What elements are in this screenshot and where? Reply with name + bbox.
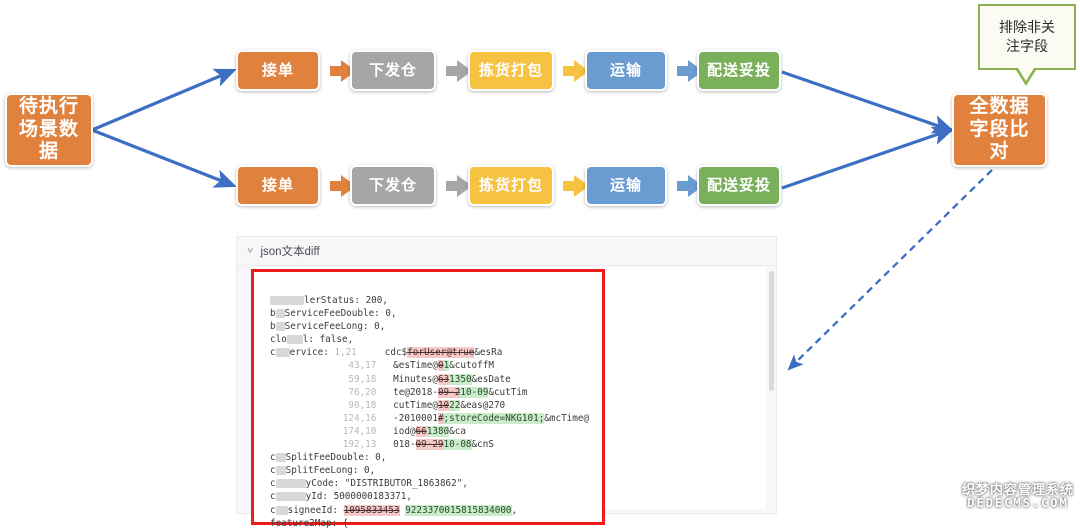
redacted-text xyxy=(287,335,303,344)
node-r1-step-4-label: 运输 xyxy=(610,62,642,79)
callout-label: 排除非关 注字段 xyxy=(999,18,1055,56)
node-r1-step-1-accept-order[interactable]: 接单 xyxy=(236,50,320,91)
diff-text: &esDate xyxy=(472,374,511,385)
callout-tail-inner-icon xyxy=(1018,68,1034,81)
callout-exclude-irrelevant-fields: 排除非关 注字段 xyxy=(978,4,1076,70)
node-r1-step-2-dispatch-warehouse[interactable]: 下发仓 xyxy=(350,50,436,91)
diff-line-number: 76,20 xyxy=(348,387,376,398)
diff-line: b ServiceFeeLong: 0, xyxy=(270,320,600,333)
redacted-text xyxy=(276,506,288,515)
redacted-text xyxy=(276,479,306,488)
diff-text: b xyxy=(270,308,276,319)
diff-line: c SplitFeeDouble: 0, xyxy=(270,451,600,464)
diff-text: &ca xyxy=(449,426,466,437)
diff-text: yId: 5000000183371, xyxy=(306,491,412,502)
redacted-text xyxy=(270,296,304,305)
node-r1-step-5-delivered[interactable]: 配送妥投 xyxy=(697,50,781,91)
node-r2-step-2-label: 下发仓 xyxy=(369,177,417,194)
diff-text: clo xyxy=(270,334,287,345)
diff-text: &cnS xyxy=(472,439,494,450)
diff-text: ServiceFeeLong: 0, xyxy=(285,321,386,332)
diff-text: c xyxy=(270,452,276,463)
diff-text: 018- xyxy=(376,439,415,450)
diff-text xyxy=(270,400,348,411)
diff-added-text: ;storeCode=NKG101; xyxy=(444,413,545,424)
diff-removed-text: 09-29 xyxy=(416,439,444,450)
node-source-scenario-data[interactable]: 待执行 场景数 据 xyxy=(5,93,93,167)
diff-text: te@2018- xyxy=(376,387,438,398)
diff-line: clo l: false, xyxy=(270,333,600,346)
node-full-field-comparison-label: 全数据 字段比 对 xyxy=(969,96,1029,164)
diff-highlight-box: lerStatus: 200,b ServiceFeeDouble: 0,b S… xyxy=(251,269,605,525)
diff-removed-text: forUser@true xyxy=(407,347,474,358)
diff-text: Minutes@ xyxy=(376,374,438,385)
diff-text: iod@ xyxy=(376,426,415,437)
diff-line: c ervice: 1,21 cdc$forUser@true&esRa xyxy=(270,346,600,359)
chevron-down-icon[interactable]: ˅ xyxy=(247,246,253,256)
diff-removed-text: 66 xyxy=(416,426,427,437)
diff-text: cdc$ xyxy=(357,347,407,358)
diff-line-number: 192,13 xyxy=(343,439,377,450)
diff-line-number: 59,18 xyxy=(348,374,376,385)
diff-text xyxy=(270,439,343,450)
diff-text: yCode: "DISTRIBUTOR_1863862", xyxy=(306,478,468,489)
diff-text: cutTime@ xyxy=(376,400,438,411)
node-full-field-comparison[interactable]: 全数据 字段比 对 xyxy=(952,93,1047,167)
diff-added-text: 1350 xyxy=(449,374,471,385)
diff-text: &esRa xyxy=(474,347,502,358)
diff-text xyxy=(270,413,343,424)
node-r2-step-3-label: 拣货打包 xyxy=(479,177,543,194)
diff-line: b ServiceFeeDouble: 0, xyxy=(270,307,600,320)
redacted-text xyxy=(276,322,285,331)
diff-line-number: 43,17 xyxy=(348,360,376,371)
diff-line: 43,17 &esTime@01&cutoffM xyxy=(270,359,600,372)
diff-line: 76,20 te@2018-09-210-09&cutTim xyxy=(270,386,600,399)
diff-removed-text: 09-2 xyxy=(438,387,460,398)
diff-text: ServiceFeeDouble: 0, xyxy=(285,308,397,319)
json-diff-panel: ˅ json文本diff lerStatus: 200,b ServiceFee… xyxy=(236,236,777,514)
diff-text: &cutTim xyxy=(488,387,527,398)
diff-line-number: 124,16 xyxy=(343,413,377,424)
diff-text: b xyxy=(270,321,276,332)
diff-text: ervice: xyxy=(290,347,335,358)
diff-text xyxy=(270,360,348,371)
diff-line-number: 174,10 xyxy=(343,426,377,437)
diagram-canvas: 待执行 场景数 据 接单 下发仓 拣货打包 运输 配送妥投 接单 下发仓 拣货打… xyxy=(0,0,1080,514)
diff-line: c yId: 5000000183371, xyxy=(270,490,600,503)
diff-line-number: 90,18 xyxy=(348,400,376,411)
json-diff-panel-header[interactable]: ˅ json文本diff xyxy=(237,237,776,266)
diff-removed-text: # xyxy=(438,413,444,424)
diff-removed-text: 10 xyxy=(438,400,449,411)
diff-line: 192,13 018-09-2910-08&cnS xyxy=(270,438,600,451)
redacted-text xyxy=(276,309,285,318)
diff-line: 174,10 iod@661380&ca xyxy=(270,425,600,438)
node-r2-step-5-delivered[interactable]: 配送妥投 xyxy=(697,165,781,206)
watermark-cn: 织梦内容管理系统 xyxy=(962,483,1074,497)
redacted-text xyxy=(276,466,286,475)
diff-line: lerStatus: 200, xyxy=(270,294,600,307)
node-r1-step-4-transport[interactable]: 运输 xyxy=(585,50,667,91)
diff-text: c xyxy=(270,478,276,489)
node-source-scenario-data-label: 待执行 场景数 据 xyxy=(19,96,79,164)
node-r1-step-1-label: 接单 xyxy=(262,62,294,79)
node-r1-step-3-pick-pack[interactable]: 拣货打包 xyxy=(468,50,554,91)
node-r1-step-2-label: 下发仓 xyxy=(369,62,417,79)
diff-text: SplitFeeLong: 0, xyxy=(286,465,376,476)
node-r2-step-5-label: 配送妥投 xyxy=(707,177,771,194)
diff-line: c SplitFeeLong: 0, xyxy=(270,464,600,477)
diff-removed-text: 63 xyxy=(438,374,449,385)
watermark-en: DEDECMS.COM xyxy=(962,497,1074,510)
diff-line: feature2Map: { xyxy=(270,517,600,530)
node-r2-step-4-label: 运输 xyxy=(610,177,642,194)
diff-line: 90,18 cutTime@1022&eas@270 xyxy=(270,399,600,412)
diff-scrollbar[interactable] xyxy=(769,271,774,391)
diff-text xyxy=(270,374,348,385)
diff-added-text: 10-09 xyxy=(460,387,488,398)
watermark: 织梦内容管理系统 DEDECMS.COM xyxy=(962,483,1074,510)
diff-text: feature2Map: { xyxy=(270,518,348,529)
redacted-text xyxy=(276,492,306,501)
diff-text xyxy=(270,426,343,437)
redacted-text xyxy=(276,348,290,357)
redacted-text xyxy=(276,453,286,462)
diff-text: -2010001 xyxy=(376,413,438,424)
node-r2-step-1-accept-order[interactable]: 接单 xyxy=(236,165,320,206)
diff-text: c xyxy=(270,465,276,476)
diff-text: &cutoffM xyxy=(449,360,494,371)
node-r2-step-1-label: 接单 xyxy=(262,177,294,194)
diff-text: &esTime@ xyxy=(376,360,438,371)
diff-text: &eas@270 xyxy=(460,400,505,411)
node-r2-step-2-dispatch-warehouse[interactable]: 下发仓 xyxy=(350,165,436,206)
diff-line-number: 1,21 xyxy=(334,347,356,358)
diff-removed-text: 0 xyxy=(438,360,444,371)
diff-line: 59,18 Minutes@631350&esDate xyxy=(270,373,600,386)
json-diff-panel-title: json文本diff xyxy=(260,243,319,259)
diff-line: c yCode: "DISTRIBUTOR_1863862", xyxy=(270,477,600,490)
diff-line: c signeeId: 1095833453 92233700158158340… xyxy=(270,504,600,517)
diff-text: c xyxy=(270,347,276,358)
diff-added-text: 22 xyxy=(449,400,460,411)
diff-code-area[interactable]: lerStatus: 200,b ServiceFeeDouble: 0,b S… xyxy=(270,294,600,530)
diff-added-text: 1380 xyxy=(427,426,449,437)
diff-text: lerStatus: 200, xyxy=(304,295,388,306)
node-r2-step-4-transport[interactable]: 运输 xyxy=(585,165,667,206)
diff-line: 124,16 -2010001#;storeCode=NKG101;&mcTim… xyxy=(270,412,600,425)
diff-text: c xyxy=(270,491,276,502)
node-r2-step-3-pick-pack[interactable]: 拣货打包 xyxy=(468,165,554,206)
diff-text: l: false, xyxy=(303,334,353,345)
node-r1-step-5-label: 配送妥投 xyxy=(707,62,771,79)
diff-added-text: 10-08 xyxy=(444,439,472,450)
diff-text: &mcTime@ xyxy=(544,413,589,424)
diff-text: SplitFeeDouble: 0, xyxy=(286,452,387,463)
node-r1-step-3-label: 拣货打包 xyxy=(479,62,543,79)
diff-text xyxy=(270,387,348,398)
